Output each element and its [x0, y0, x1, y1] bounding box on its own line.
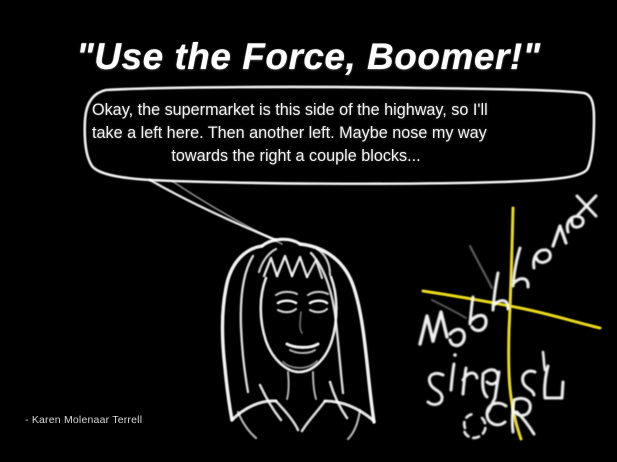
hand-drawn-map-sketch: [420, 196, 600, 439]
speech-bubble-text: Okay, the supermarket is this side of th…: [92, 99, 500, 168]
cartoon-canvas: "Use the Force, Boomer!": [0, 0, 617, 462]
map-road-horizontal: [423, 291, 600, 328]
speech-line-1: Okay, the supermarket is this side of th…: [92, 99, 500, 122]
speech-line-2: take a left here. Then another left. May…: [92, 122, 500, 145]
speech-bubble-tail-secondary: [172, 181, 282, 244]
map-road-vertical: [509, 208, 521, 439]
speech-bubble-tail: [150, 180, 276, 240]
woman-line-drawing: [223, 239, 375, 439]
speech-line-3: towards the right a couple blocks...: [92, 145, 500, 168]
attribution-credit: - Karen Molenaar Terrell: [25, 414, 142, 426]
page-title: "Use the Force, Boomer!": [0, 38, 617, 75]
